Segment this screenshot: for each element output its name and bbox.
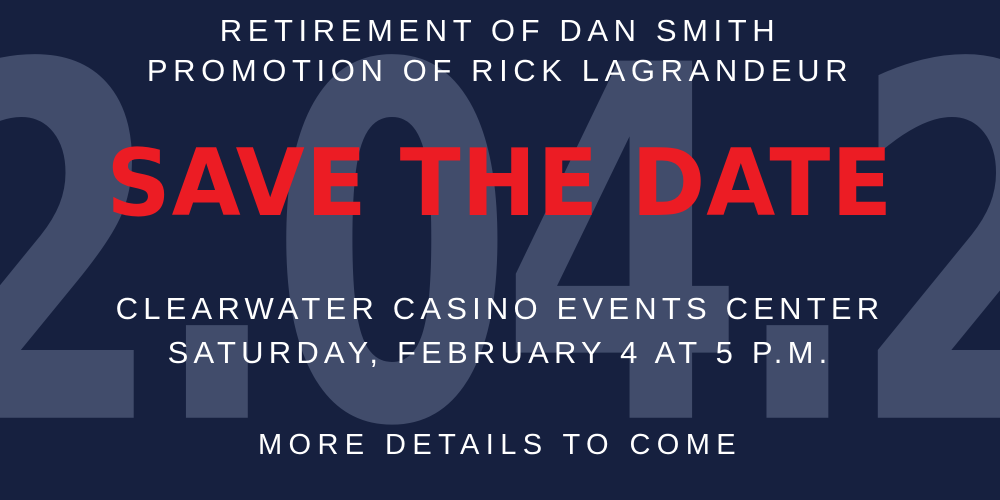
card-content: RETIREMENT OF DAN SMITH PROMOTION OF RIC…	[0, 0, 1000, 500]
headline-block: RETIREMENT OF DAN SMITH PROMOTION OF RIC…	[0, 11, 1000, 91]
footer-note: MORE DETAILS TO COME	[258, 427, 742, 463]
event-details-block: CLEARWATER CASINO EVENTS CENTER SATURDAY…	[0, 287, 1000, 375]
page-title: SAVE THE DATE	[107, 135, 894, 231]
headline-line-retirement: RETIREMENT OF DAN SMITH	[0, 11, 1000, 51]
venue-line: CLEARWATER CASINO EVENTS CENTER	[0, 287, 1000, 331]
save-the-date-card: 02.04.23 RETIREMENT OF DAN SMITH PROMOTI…	[0, 0, 1000, 500]
datetime-line: SATURDAY, FEBRUARY 4 AT 5 P.M.	[0, 331, 1000, 375]
headline-line-promotion: PROMOTION OF RICK LAGRANDEUR	[0, 51, 1000, 91]
